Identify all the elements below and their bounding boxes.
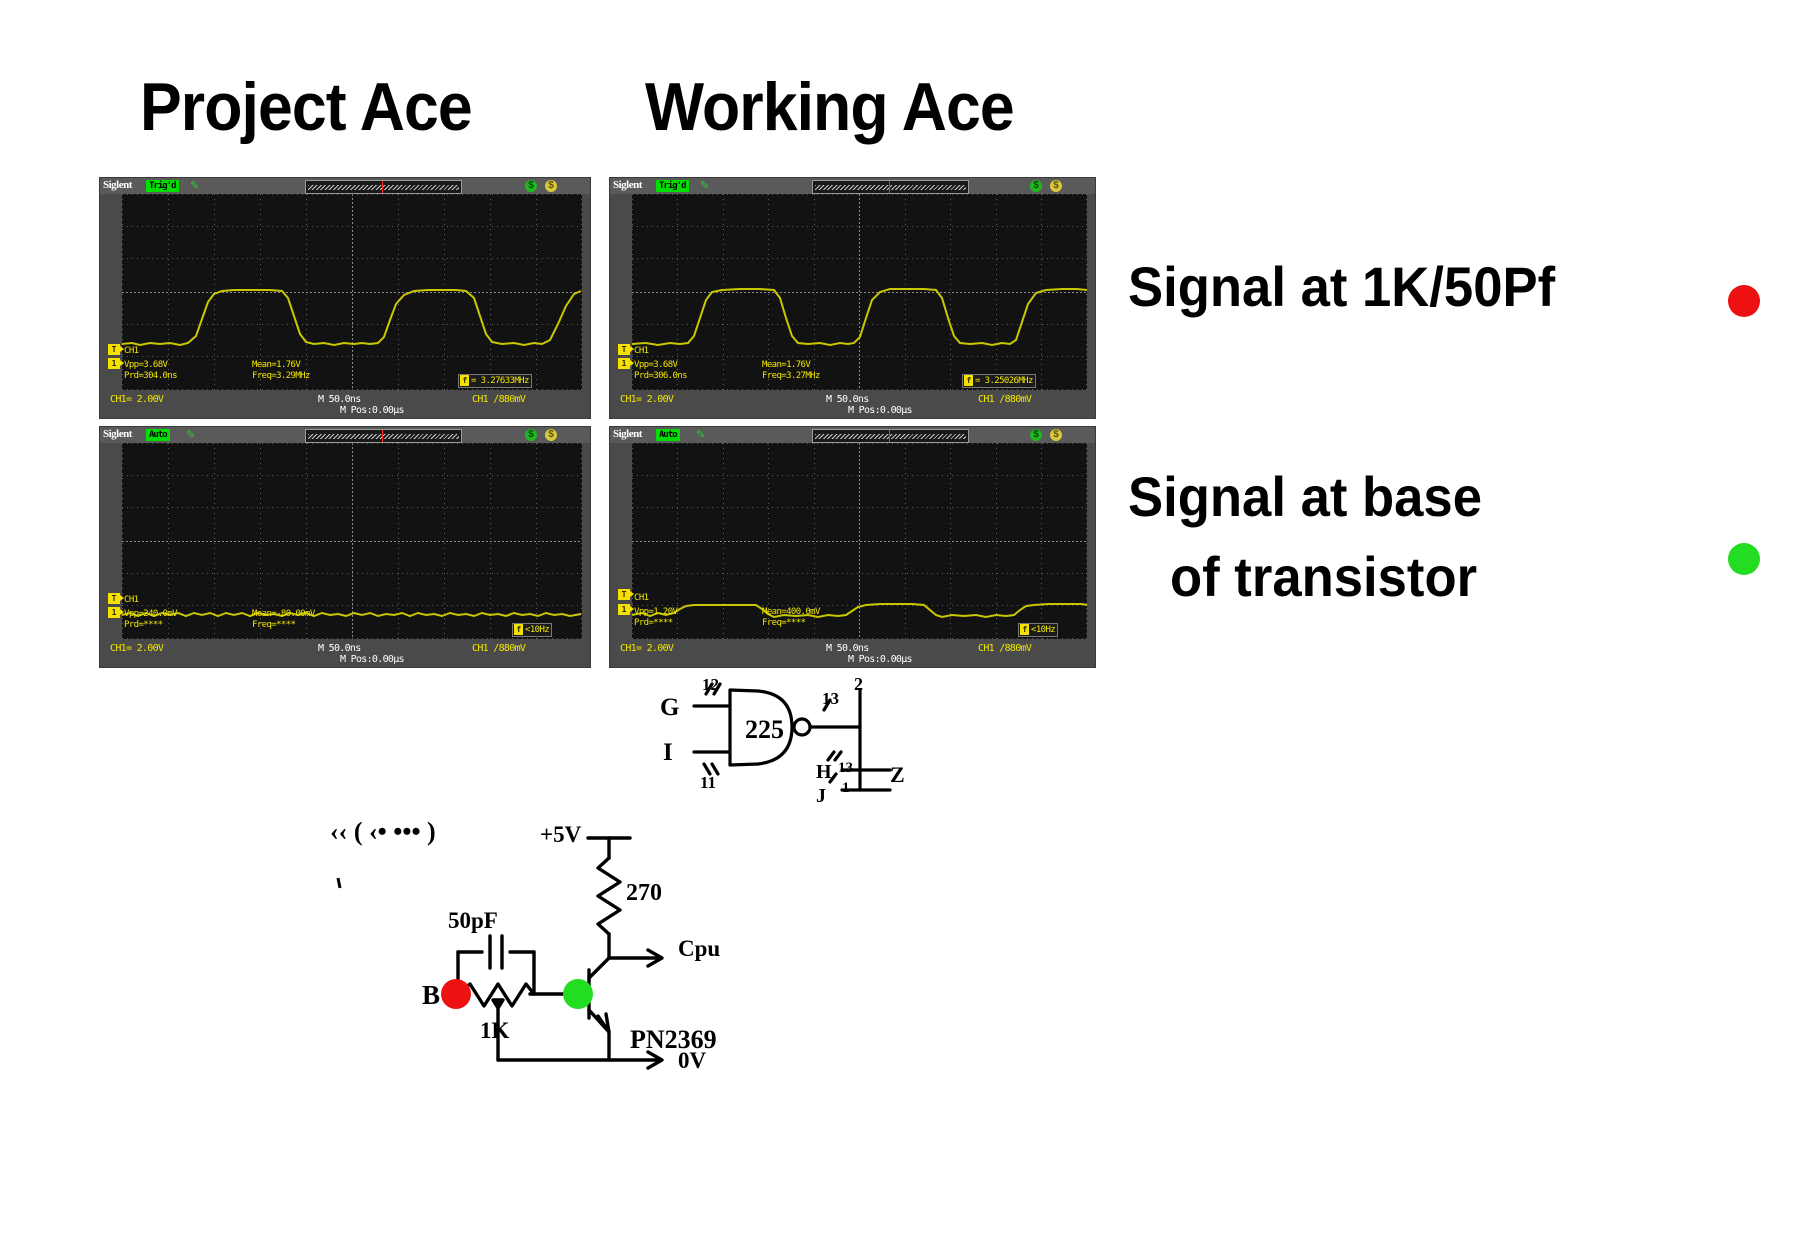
- scope-topbar: Siglent Auto ✎ $ $: [100, 427, 590, 443]
- yellow-status-icon: $: [545, 180, 557, 192]
- schematic-input-g: G: [660, 694, 679, 721]
- scope-bottom-bar: CH1= 2.00V M 50.0ns M Pos:0.00µs CH1 ∕88…: [100, 390, 590, 418]
- schematic-supply: +5V: [540, 822, 582, 847]
- measurement-mean: Mean=-80.00mV: [252, 609, 315, 619]
- minimap-trigger-marker: [382, 430, 383, 442]
- page-title-project-ace: Project Ace: [140, 68, 472, 146]
- oscilloscope-working-ace-bottom: Siglent Auto ✎ $ $ T 1 CH1 Vpp=1.20V Prd…: [610, 427, 1095, 667]
- scope-topbar: Siglent Trig'd ✎ $ $: [610, 178, 1095, 194]
- counter-value: = 3.25026MHz: [975, 376, 1033, 386]
- channel1-ground-marker[interactable]: 1: [108, 358, 120, 369]
- svg-text:13: 13: [822, 689, 839, 708]
- timebase-readout: M 50.0ns: [826, 643, 869, 654]
- channel-label: CH1: [634, 593, 648, 603]
- schematic-input-i: I: [663, 739, 673, 766]
- scope-display-grid[interactable]: [632, 194, 1087, 390]
- minimap-trigger-marker: [889, 181, 890, 193]
- trigger-status-badge[interactable]: Auto: [656, 429, 680, 441]
- yellow-status-icon: $: [1050, 429, 1062, 441]
- waveform-minimap[interactable]: [812, 429, 969, 443]
- measurement-prd: Prd=304.0ns: [124, 371, 177, 381]
- channel-label: CH1: [124, 595, 138, 605]
- svg-text:13: 13: [838, 760, 853, 776]
- pen-icon: ✎: [186, 429, 198, 441]
- measurement-freq: Freq=3.27MHz: [762, 371, 820, 381]
- handdrawn-schematic: G I 12 11 13 2 H 13 J 1 Z 225 ‹‹ ( ‹• ••…: [330, 660, 970, 1130]
- waveform-minimap[interactable]: [812, 180, 969, 194]
- trigger-status-badge[interactable]: Trig'd: [656, 180, 689, 192]
- measurement-prd: Prd=****: [124, 620, 163, 630]
- counter-badge-icon: f: [460, 375, 469, 386]
- schematic-ground: 0V: [678, 1048, 707, 1073]
- counter-value: <10Hz: [525, 625, 549, 635]
- trigger-level-readout: CH1 ∕880mV: [978, 643, 1031, 654]
- horizontal-position-readout: M Pos:0.00µs: [340, 405, 404, 416]
- schematic-gate-label: 225: [745, 715, 784, 744]
- waveform-minimap[interactable]: [305, 180, 462, 194]
- trigger-level-marker[interactable]: T: [618, 589, 630, 600]
- minimap-trigger-marker: [382, 181, 383, 193]
- trigger-level-readout: CH1 ∕880mV: [472, 643, 525, 654]
- timebase-readout: M 50.0ns: [318, 394, 361, 405]
- counter-badge-icon: f: [514, 624, 523, 635]
- schematic-cap-50pf: 50pF: [448, 908, 498, 933]
- waveform-minimap[interactable]: [305, 429, 462, 443]
- green-status-icon: $: [525, 429, 537, 441]
- green-legend-dot: [1728, 543, 1760, 575]
- schematic-resistor-1k: 1K: [480, 1018, 510, 1043]
- channel-label: CH1: [634, 346, 648, 356]
- red-legend-dot: [1728, 285, 1760, 317]
- frequency-counter: f= 3.25026MHz: [962, 374, 1036, 388]
- trigger-level-marker[interactable]: T: [618, 344, 630, 355]
- pen-icon: ✎: [696, 429, 708, 441]
- siglent-logo: Siglent: [613, 428, 642, 440]
- scope-topbar: Siglent Auto ✎ $ $: [610, 427, 1095, 443]
- siglent-logo: Siglent: [613, 179, 642, 191]
- measurement-prd: Prd=306.0ns: [634, 371, 687, 381]
- measurement-freq: Freq=3.29MHz: [252, 371, 310, 381]
- channel-scale-readout: CH1= 2.00V: [620, 394, 673, 405]
- trigger-status-badge[interactable]: Trig'd: [146, 180, 179, 192]
- minimap-waveform: [815, 185, 966, 190]
- frequency-counter: f<10Hz: [512, 623, 552, 637]
- waveform-trace: [632, 443, 1087, 639]
- schematic-resistor-270: 270: [626, 880, 662, 906]
- scope-display-grid[interactable]: [122, 443, 582, 639]
- measurement-vpp: Vpp=3.68V: [634, 360, 677, 370]
- scope-topbar: Siglent Trig'd ✎ $ $: [100, 178, 590, 194]
- pen-icon: ✎: [700, 180, 712, 192]
- schematic-output-cpu: Cpu: [678, 936, 720, 961]
- channel1-ground-marker[interactable]: 1: [618, 358, 630, 369]
- oscilloscope-working-ace-top: Siglent Trig'd ✎ $ $ T 1 CH1 Vpp=3.68V P…: [610, 178, 1095, 418]
- measurement-vpp: Vpp=3.68V: [124, 360, 167, 370]
- scope-bottom-bar: CH1= 2.00V M 50.0ns M Pos:0.00µs CH1 ∕88…: [610, 390, 1095, 418]
- channel-scale-readout: CH1= 2.00V: [110, 643, 163, 654]
- timebase-readout: M 50.0ns: [826, 394, 869, 405]
- trigger-level-readout: CH1 ∕880mV: [978, 394, 1031, 405]
- siglent-logo: Siglent: [103, 428, 132, 440]
- minimap-trigger-marker: [889, 430, 890, 442]
- channel1-ground-marker[interactable]: 1: [108, 607, 120, 618]
- frequency-counter: f= 3.27633MHz: [458, 374, 532, 388]
- page-title-working-ace: Working Ace: [645, 68, 1014, 146]
- svg-text:2: 2: [854, 674, 863, 694]
- svg-text:11: 11: [700, 773, 716, 792]
- siglent-logo: Siglent: [103, 179, 132, 191]
- minimap-waveform: [815, 434, 966, 439]
- measurement-prd: Prd=****: [634, 618, 673, 628]
- minimap-waveform: [308, 434, 459, 439]
- svg-text:1: 1: [842, 780, 850, 796]
- channel-scale-readout: CH1= 2.00V: [110, 394, 163, 405]
- trigger-level-marker[interactable]: T: [108, 344, 120, 355]
- channel-scale-readout: CH1= 2.00V: [620, 643, 673, 654]
- channel1-ground-marker[interactable]: 1: [618, 604, 630, 615]
- waveform-trace: [632, 194, 1087, 390]
- measurement-vpp: Vpp=240.0mV: [124, 609, 177, 619]
- green-status-icon: $: [525, 180, 537, 192]
- pen-icon: ✎: [190, 180, 202, 192]
- measurement-mean: Mean=1.76V: [762, 360, 810, 370]
- waveform-trace: [122, 443, 582, 639]
- scope-display-grid[interactable]: [122, 194, 582, 390]
- scope-display-grid[interactable]: [632, 443, 1087, 639]
- counter-value: <10Hz: [1031, 625, 1055, 635]
- caption-signal-base-line1: Signal at base: [1128, 468, 1482, 526]
- caption-signal-base-line2: of transistor: [1170, 548, 1477, 606]
- timebase-readout: M 50.0ns: [318, 643, 361, 654]
- schematic-note: ‹‹ ( ‹• ••• ): [330, 817, 436, 846]
- measurement-freq: Freq=****: [762, 618, 805, 628]
- red-probe-dot: [441, 979, 471, 1009]
- counter-badge-icon: f: [1020, 624, 1029, 635]
- green-status-icon: $: [1030, 429, 1042, 441]
- oscilloscope-project-ace-top: Siglent Trig'd ✎ $ $ T 1 CH1 Vpp=3.68V P…: [100, 178, 590, 418]
- schematic-probe-b: B: [422, 980, 440, 1010]
- channel-label: CH1: [124, 346, 138, 356]
- green-probe-dot: [563, 979, 593, 1009]
- counter-value: = 3.27633MHz: [471, 376, 529, 386]
- svg-text:H: H: [816, 761, 832, 783]
- caption-signal-1k50pf: Signal at 1K/50Pf: [1128, 258, 1555, 316]
- yellow-status-icon: $: [1050, 180, 1062, 192]
- counter-badge-icon: f: [964, 375, 973, 386]
- minimap-waveform: [308, 185, 459, 190]
- trigger-status-badge[interactable]: Auto: [146, 429, 170, 441]
- measurement-vpp: Vpp=1.20V: [634, 607, 677, 617]
- green-status-icon: $: [1030, 180, 1042, 192]
- svg-text:Z: Z: [890, 762, 905, 787]
- measurement-mean: Mean=400.0mV: [762, 607, 820, 617]
- waveform-trace: [122, 194, 582, 390]
- trigger-level-marker[interactable]: T: [108, 593, 120, 604]
- measurement-mean: Mean=1.76V: [252, 360, 300, 370]
- yellow-status-icon: $: [545, 429, 557, 441]
- trigger-level-readout: CH1 ∕880mV: [472, 394, 525, 405]
- frequency-counter: f<10Hz: [1018, 623, 1058, 637]
- oscilloscope-project-ace-bottom: Siglent Auto ✎ $ $ T 1 CH1 Vpp=240.0mV P…: [100, 427, 590, 667]
- horizontal-position-readout: M Pos:0.00µs: [848, 405, 912, 416]
- svg-text:12: 12: [702, 675, 719, 694]
- measurement-freq: Freq=****: [252, 620, 295, 630]
- svg-text:J: J: [816, 785, 826, 807]
